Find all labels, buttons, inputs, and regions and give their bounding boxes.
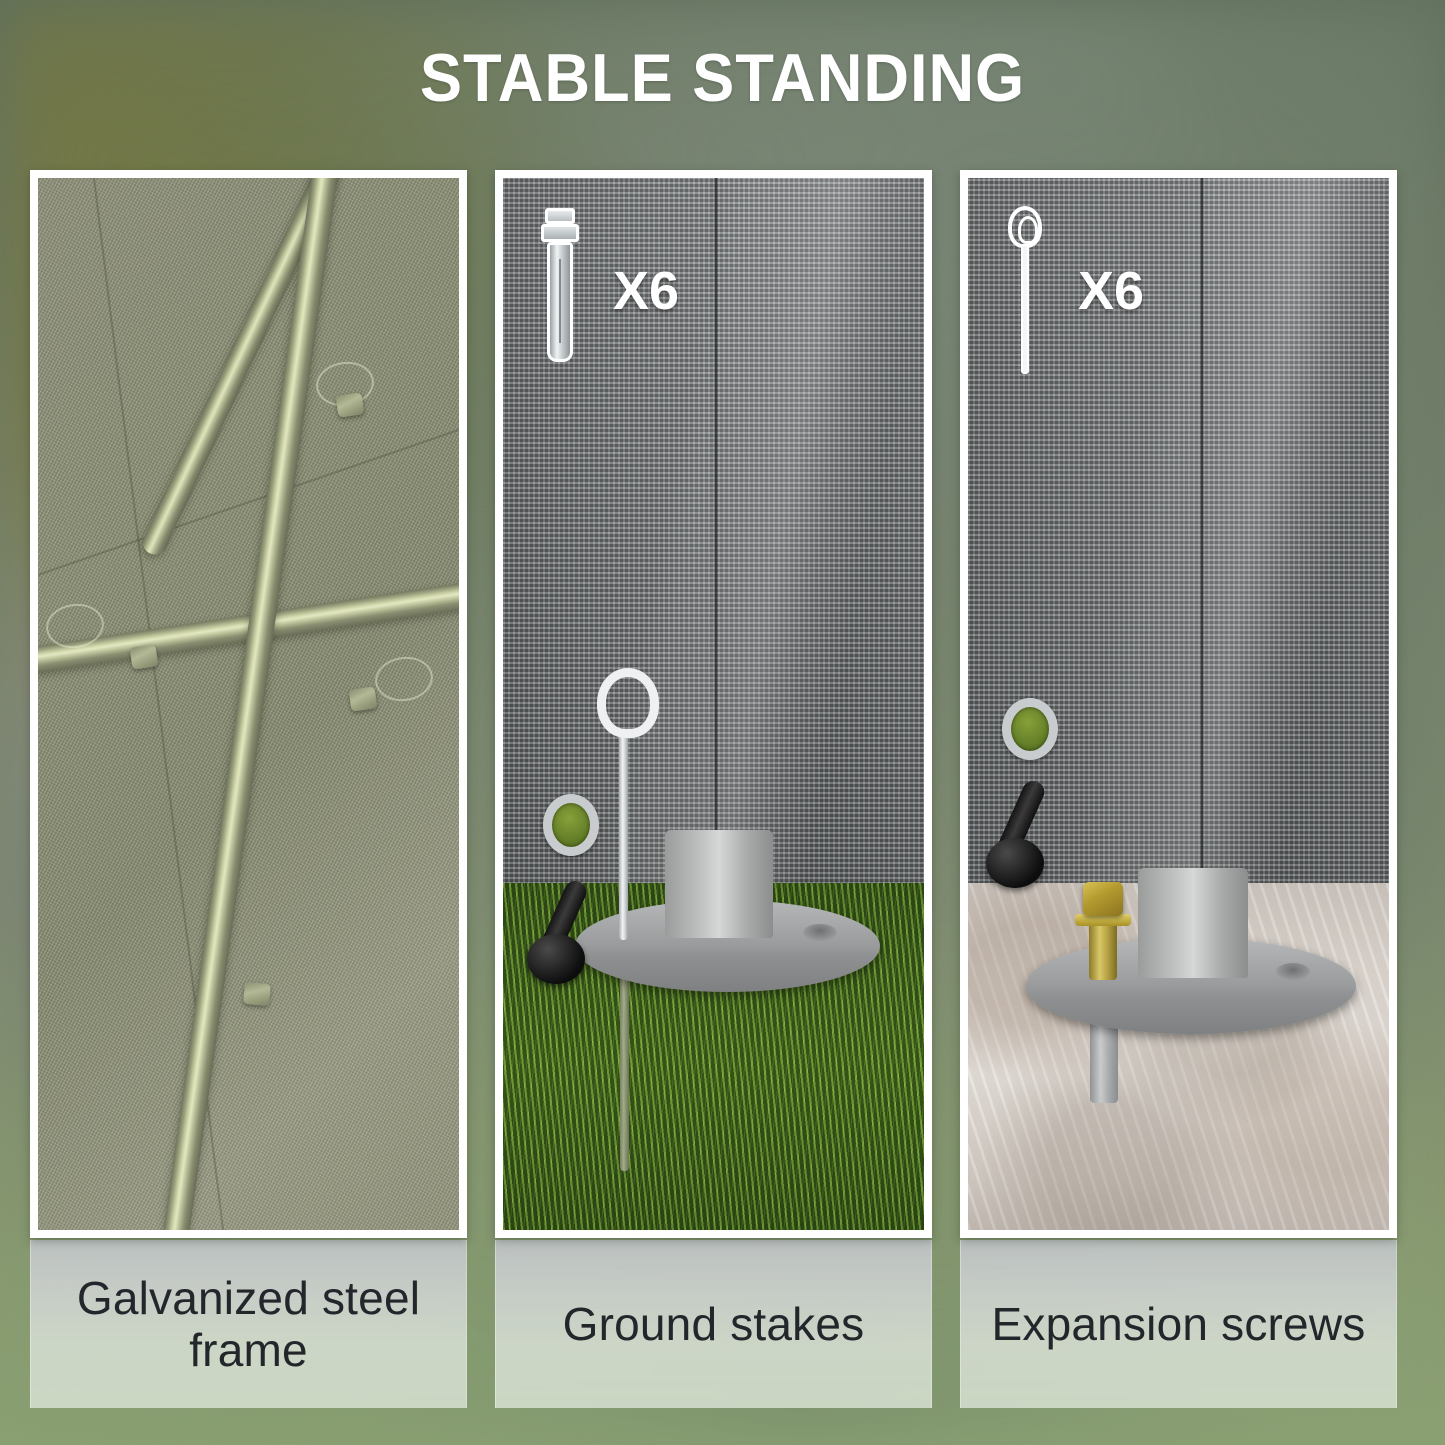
expansion-screw-head [1083, 882, 1123, 916]
callout-quantity: X6 [533, 206, 679, 376]
ground-stake-shaft-buried [620, 966, 629, 1171]
tarp-seam [714, 178, 718, 914]
photo-frame: X6 [960, 170, 1397, 1238]
panel-galvanized-frame: Galvanized steel frame [30, 170, 467, 1408]
panel-row: Galvanized steel frame [30, 170, 1412, 1408]
anchor-bolt-icon [533, 206, 595, 376]
panel-caption: Galvanized steel frame [30, 1240, 467, 1408]
caption-text: Ground stakes [563, 1298, 865, 1350]
photo-expansion-screws: X6 [968, 178, 1389, 1230]
frame-bolt [243, 981, 271, 1006]
ground-stake-icon [998, 206, 1060, 376]
panel-expansion-screws: X6 Expansion screws [960, 170, 1397, 1408]
caption-text: Expansion screws [992, 1298, 1366, 1350]
page-title: STABLE STANDING [51, 44, 1395, 112]
ground-stake-eye [597, 668, 659, 738]
panel-caption: Expansion screws [960, 1240, 1397, 1408]
frame-bolt [129, 644, 158, 669]
callout-quantity: X6 [998, 206, 1144, 376]
panel-caption: Ground stakes [495, 1240, 932, 1408]
frame-bolt [336, 392, 365, 417]
grommet-ring [543, 794, 599, 856]
caption-text: Galvanized steel frame [47, 1272, 450, 1377]
photo-frame [30, 170, 467, 1238]
frame-bolt [348, 687, 377, 712]
infographic-stage: STABLE STANDING [0, 0, 1445, 1445]
photo-frame: X6 [495, 170, 932, 1238]
grommet-ring [1002, 698, 1058, 760]
bungee-ball-end [527, 934, 585, 984]
ground-stake-shaft [619, 730, 628, 940]
photo-galvanized-frame [38, 178, 459, 1230]
expansion-screw-body [1089, 922, 1117, 980]
shelter-leg-post [665, 830, 773, 938]
photo-ground-stakes: X6 [503, 178, 924, 1230]
quantity-badge: X6 [1078, 264, 1144, 318]
shelter-leg-post [1138, 868, 1248, 978]
tarp-seam [1200, 178, 1204, 956]
quantity-badge: X6 [613, 264, 679, 318]
panel-ground-stakes: X6 Ground stakes [495, 170, 932, 1408]
bungee-ball-end [986, 838, 1044, 888]
